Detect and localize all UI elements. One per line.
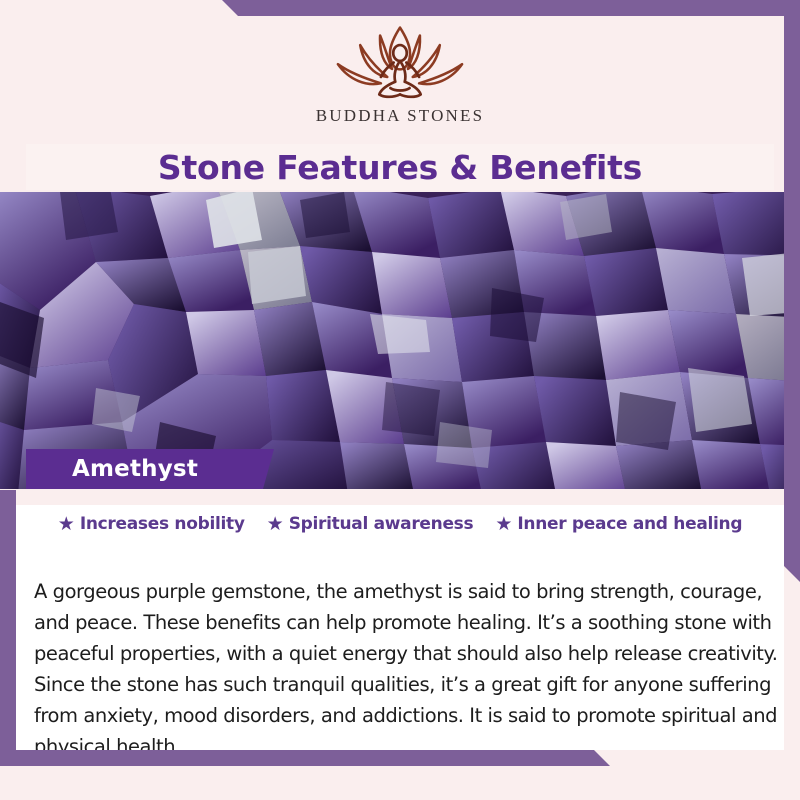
stone-name-banner: Amethyst — [26, 449, 198, 489]
lotus-meditation-icon — [320, 18, 480, 104]
benefit-label: Increases nobility — [80, 514, 245, 534]
stone-description: A gorgeous purple gemstone, the amethyst… — [34, 576, 780, 762]
brand-wordmark: BUDDHA STONES — [316, 106, 485, 126]
benefit-item: ★ Increases nobility — [58, 514, 245, 534]
benefits-list: ★ Increases nobility ★ Spiritual awarene… — [16, 514, 784, 534]
section-title-bar: Stone Features & Benefits — [26, 144, 774, 190]
star-icon: ★ — [58, 515, 75, 534]
star-icon: ★ — [267, 515, 284, 534]
benefit-item: ★ Inner peace and healing — [495, 514, 742, 534]
frame-right-bar — [784, 0, 800, 582]
logo-lockup: BUDDHA STONES — [0, 18, 800, 126]
stone-info-card: BUDDHA STONES Stone Features & Benefits … — [0, 0, 800, 800]
benefit-label: Spiritual awareness — [289, 514, 474, 534]
page-title: Stone Features & Benefits — [158, 148, 642, 187]
benefit-item: ★ Spiritual awareness — [267, 514, 474, 534]
star-icon: ★ — [495, 515, 512, 534]
amethyst-hero-image — [0, 192, 800, 489]
frame-left-bar — [0, 490, 16, 766]
stone-name-label: Amethyst — [26, 449, 198, 482]
benefit-label: Inner peace and healing — [517, 514, 742, 534]
